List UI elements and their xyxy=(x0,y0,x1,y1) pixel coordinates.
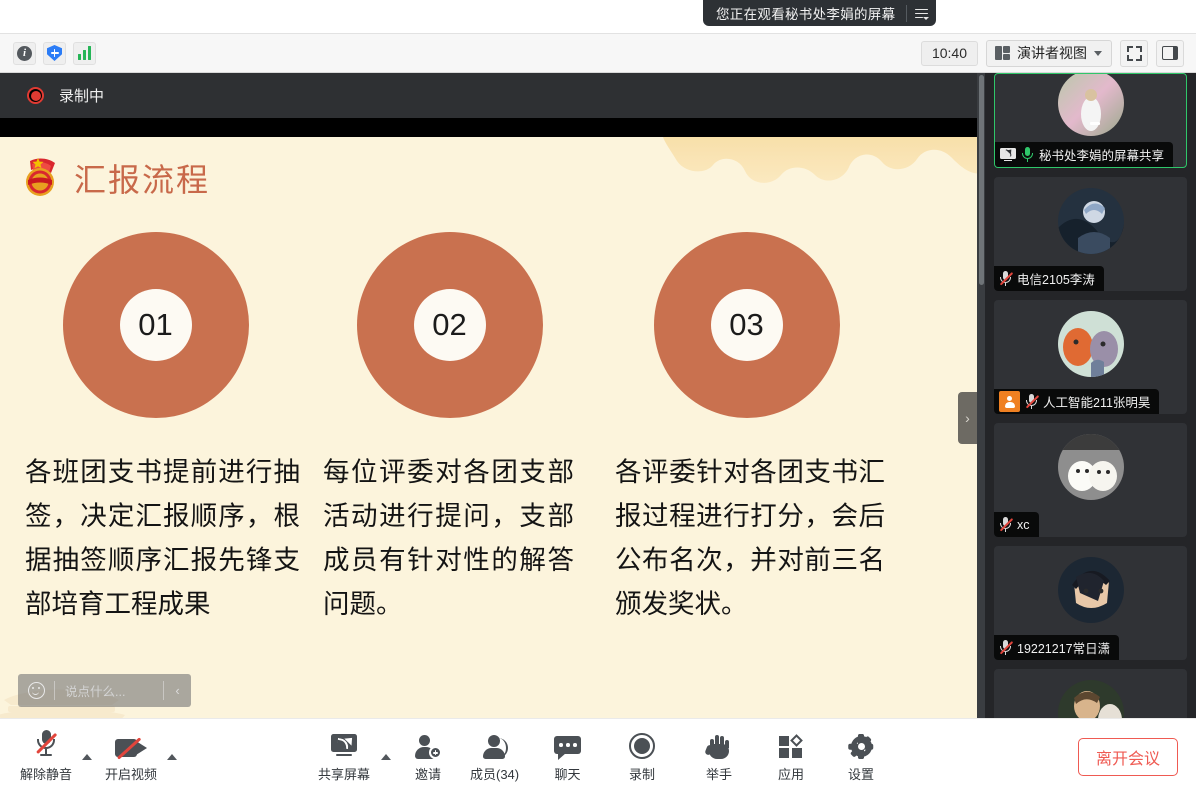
emoji-picker-button[interactable] xyxy=(18,682,54,699)
mic-muted-icon xyxy=(999,640,1012,655)
slide-step-columns: 01 各班团支书提前进行抽签，决定汇报顺序，根据抽签顺序汇报先锋支部培育工程成果… xyxy=(0,232,977,718)
mic-on-icon xyxy=(1021,147,1034,162)
participant-name: 人工智能211张明昊 xyxy=(1043,392,1150,411)
slide-title: 汇报流程 xyxy=(74,155,210,201)
meeting-info-button[interactable]: i xyxy=(13,42,36,65)
mic-muted-icon xyxy=(999,271,1012,286)
scrollbar-thumb[interactable] xyxy=(979,75,984,285)
shield-plus-icon xyxy=(47,45,62,61)
step-text: 每位评委对各团支部活动进行提问，支部成员有针对性的解答问题。 xyxy=(305,451,594,627)
chevron-down-icon xyxy=(1094,51,1102,56)
view-mode-selector[interactable]: 演讲者视图 xyxy=(986,40,1112,67)
meeting-header-bar: i 10:40 演讲者视图 xyxy=(0,33,1196,73)
participant-name: 电信2105李涛 xyxy=(1017,269,1095,288)
add-person-icon xyxy=(414,729,442,759)
security-button[interactable] xyxy=(43,42,66,65)
audio-options-caret-icon[interactable] xyxy=(82,754,92,760)
settings-button[interactable]: 设置 xyxy=(848,729,874,783)
participants-label: 成员(34) xyxy=(470,764,519,783)
participant-tile[interactable]: xc xyxy=(994,423,1187,537)
step-text: 各班团支书提前进行抽签，决定汇报顺序，根据抽签顺序汇报先锋支部培育工程成果 xyxy=(11,451,300,627)
share-screen-button[interactable]: 共享屏幕 xyxy=(318,729,370,783)
participant-tile[interactable]: 人工智能211张明昊 xyxy=(994,300,1187,414)
meeting-control-toolbar: 解除静音 开启视频 共享屏幕 邀请 成员(34) 聊天 xyxy=(0,718,1196,791)
avatar xyxy=(1058,557,1124,623)
slide-header: 汇报流程 xyxy=(18,155,210,201)
floating-chat-input-bar[interactable]: 说点什么... ‹ xyxy=(18,674,191,707)
step-column: 02 每位评委对各团支部活动进行提问，支部成员有针对性的解答问题。 xyxy=(305,232,594,718)
participant-tile[interactable]: 19221217常日潇 xyxy=(994,546,1187,660)
mic-muted-icon xyxy=(999,517,1012,532)
camera-off-icon xyxy=(115,729,147,759)
step-number-bubble: 02 xyxy=(357,232,543,418)
apps-label: 应用 xyxy=(778,764,804,783)
mic-muted-icon xyxy=(35,729,57,759)
share-options-caret-icon[interactable] xyxy=(381,754,391,760)
header-right-group: 10:40 演讲者视图 xyxy=(921,40,1196,67)
unmute-label: 解除静音 xyxy=(20,764,72,783)
screen-share-notice-text: 您正在观看秘书处李娟的屏幕 xyxy=(716,3,895,23)
step-column: 01 各班团支书提前进行抽签，决定汇报顺序，根据抽签顺序汇报先锋支部培育工程成果 xyxy=(11,232,300,718)
apps-grid-icon xyxy=(779,729,804,759)
speaker-view-icon xyxy=(995,46,1010,60)
video-options-caret-icon[interactable] xyxy=(167,754,177,760)
shared-screen-stage: 录制中 xyxy=(0,73,977,718)
screen-share-notice: 您正在观看秘书处李娟的屏幕 xyxy=(703,0,936,26)
cloud-decoration xyxy=(663,137,977,212)
share-screen-icon xyxy=(329,729,359,759)
notice-menu-button[interactable] xyxy=(907,0,936,26)
participant-tile[interactable] xyxy=(994,669,1187,718)
invite-label: 邀请 xyxy=(415,764,441,783)
record-circle-icon xyxy=(629,729,655,759)
side-panel-icon xyxy=(1162,46,1178,60)
step-number-bubble: 01 xyxy=(63,232,249,418)
step-column: 03 各评委针对各团支书汇报过程进行打分，会后公布名次，并对前三名颁发奖状。 xyxy=(602,232,891,718)
chat-input[interactable]: 说点什么... xyxy=(55,681,163,700)
step-number: 02 xyxy=(414,289,486,361)
chat-bubble-icon xyxy=(554,729,581,759)
participant-name: 19221217常日潇 xyxy=(1017,638,1110,657)
participant-name-bar: xc xyxy=(994,512,1039,537)
recording-label: 录制中 xyxy=(59,85,104,106)
chat-button[interactable]: 聊天 xyxy=(554,729,581,783)
mic-muted-icon xyxy=(1025,394,1038,409)
info-icon: i xyxy=(17,46,32,61)
participant-tile[interactable]: 秘书处李娟的屏幕共享 xyxy=(994,73,1187,168)
avatar xyxy=(1058,73,1124,136)
presentation-slide: 汇报流程 01 各班团支书提前进行抽签，决定汇报顺序，根据抽签顺序汇报先锋支部培… xyxy=(0,137,977,718)
host-badge-icon xyxy=(999,391,1020,412)
apps-button[interactable]: 应用 xyxy=(778,729,804,783)
leave-meeting-button[interactable]: 离开会议 xyxy=(1078,738,1178,776)
header-left-group: i xyxy=(0,42,96,65)
participant-name-bar: 秘书处李娟的屏幕共享 xyxy=(995,142,1173,167)
participant-name-bar: 19221217常日潇 xyxy=(994,635,1119,660)
collapse-sidebar-handle[interactable]: › xyxy=(958,392,977,444)
participants-gallery[interactable]: 秘书处李娟的屏幕共享 电信2105李涛 人工智能211张明昊 xyxy=(985,73,1196,718)
start-video-button[interactable]: 开启视频 xyxy=(105,729,157,783)
chevron-up-icon xyxy=(1082,115,1100,125)
fullscreen-icon xyxy=(1127,46,1142,61)
participant-name-bar: 电信2105李涛 xyxy=(994,266,1104,291)
people-icon xyxy=(482,729,508,759)
meeting-clock: 10:40 xyxy=(921,41,978,66)
chat-label: 聊天 xyxy=(554,764,580,783)
step-number: 01 xyxy=(120,289,192,361)
settings-label: 设置 xyxy=(848,764,874,783)
toggle-side-panel-button[interactable] xyxy=(1156,40,1184,67)
participant-name: xc xyxy=(1017,518,1030,532)
raise-hand-label: 举手 xyxy=(706,764,732,783)
participants-button[interactable]: 成员(34) xyxy=(470,729,519,783)
step-number-bubble: 03 xyxy=(654,232,840,418)
participant-tile[interactable]: 电信2105李涛 xyxy=(994,177,1187,291)
raise-hand-button[interactable]: 举手 xyxy=(706,729,732,783)
participant-name-bar: 人工智能211张明昊 xyxy=(994,389,1159,414)
record-dot-icon xyxy=(27,87,44,104)
gear-icon xyxy=(849,729,874,759)
fullscreen-button[interactable] xyxy=(1120,40,1148,67)
start-video-label: 开启视频 xyxy=(105,764,157,783)
avatar xyxy=(1058,680,1124,718)
avatar xyxy=(1058,311,1124,377)
record-label: 录制 xyxy=(629,764,655,783)
participant-name: 秘书处李娟的屏幕共享 xyxy=(1039,145,1164,164)
gallery-scrollbar[interactable] xyxy=(977,73,985,718)
step-number: 03 xyxy=(711,289,783,361)
view-mode-label: 演讲者视图 xyxy=(1017,43,1087,63)
emoji-face-icon xyxy=(28,682,45,699)
step-text: 各评委针对各团支书汇报过程进行打分，会后公布名次，并对前三名颁发奖状。 xyxy=(602,451,891,627)
share-screen-label: 共享屏幕 xyxy=(318,764,370,783)
unmute-button[interactable]: 解除静音 xyxy=(20,729,72,783)
signal-bars-icon xyxy=(78,46,90,60)
avatar xyxy=(1058,434,1124,500)
notification-strip: 您正在观看秘书处李娟的屏幕 xyxy=(0,0,1196,33)
recording-status-bar: 录制中 xyxy=(0,73,977,118)
raised-hand-icon xyxy=(707,729,731,759)
share-screen-icon xyxy=(1000,148,1016,162)
invite-button[interactable]: 邀请 xyxy=(414,729,442,783)
chevron-left-icon[interactable]: ‹ xyxy=(163,681,191,700)
avatar xyxy=(1058,188,1124,254)
network-status-button[interactable] xyxy=(73,42,96,65)
record-button[interactable]: 录制 xyxy=(629,729,655,783)
hamburger-icon xyxy=(915,8,928,19)
communist-youth-league-emblem-icon xyxy=(18,155,64,201)
